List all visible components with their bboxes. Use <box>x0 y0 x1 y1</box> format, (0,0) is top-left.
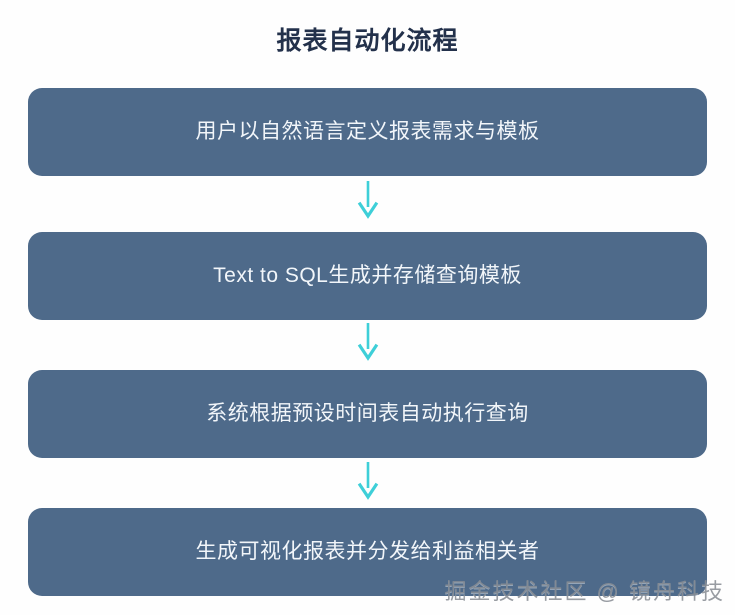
flow-node-step-2[interactable]: Text to SQL生成并存储查询模板 <box>28 232 707 320</box>
down-arrow-icon <box>352 322 384 362</box>
flow-node-step-1[interactable]: 用户以自然语言定义报表需求与模板 <box>28 88 707 176</box>
flow-node-label: 生成可视化报表并分发给利益相关者 <box>196 537 540 567</box>
flow-node-label: 系统根据预设时间表自动执行查询 <box>206 399 529 429</box>
flow-node-step-4[interactable]: 生成可视化报表并分发给利益相关者 <box>28 508 707 596</box>
page-title: 报表自动化流程 <box>0 24 735 58</box>
flow-node-label: Text to SQL生成并存储查询模板 <box>213 261 522 291</box>
flow-node-step-3[interactable]: 系统根据预设时间表自动执行查询 <box>28 370 707 458</box>
flow-node-label: 用户以自然语言定义报表需求与模板 <box>196 117 540 147</box>
down-arrow-icon <box>352 180 384 220</box>
down-arrow-icon <box>352 461 384 501</box>
flowchart-canvas: 报表自动化流程 用户以自然语言定义报表需求与模板 Text to SQL生成并存… <box>0 0 735 615</box>
